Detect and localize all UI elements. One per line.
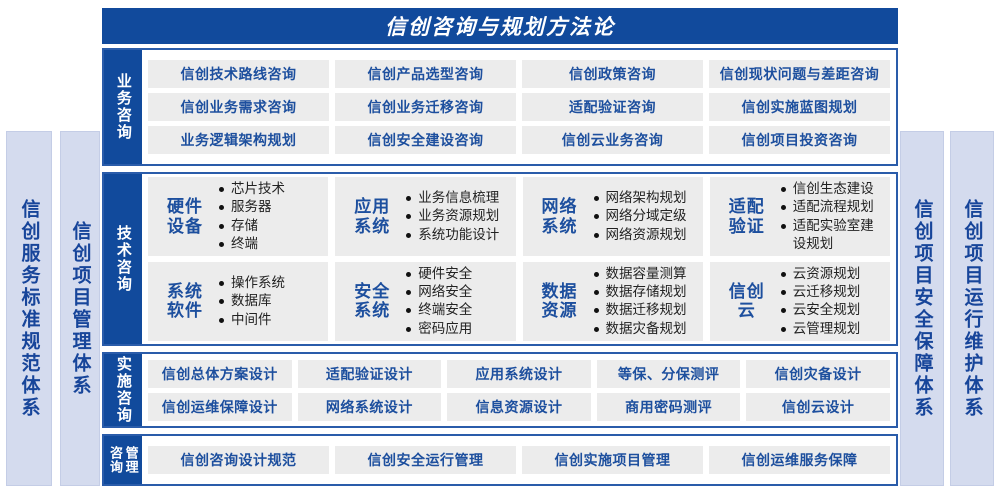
- technical-card-list-item: 中间件: [218, 311, 322, 329]
- section-label-text: 业务咨询: [115, 73, 131, 141]
- technical-card-list-item: 终端: [218, 235, 322, 253]
- section-label-text: 技术咨询: [115, 225, 131, 293]
- technical-card-list-item: 适配实验室建设规划: [780, 217, 884, 253]
- technical-card-list-item: 云管理规划: [780, 320, 884, 338]
- pillar-right-operation-maintenance: 信创项目运行维护体系: [950, 131, 994, 486]
- business-chip-item[interactable]: 信创安全建设咨询: [335, 126, 516, 154]
- section-label-text: 实施咨询: [115, 356, 131, 424]
- section-body-technical: 硬件设备芯片技术服务器存储终端应用系统业务信息梳理业务资源规划系统功能设计网络系…: [142, 174, 896, 344]
- technical-card-list-item: 适配流程规划: [780, 198, 884, 216]
- technical-card[interactable]: 系统软件操作系统数据库中间件: [148, 262, 328, 341]
- section-label-text-col2: 管理: [124, 446, 138, 474]
- management-chip-item[interactable]: 信创运维服务保障: [709, 446, 890, 474]
- technical-card-list-item: 操作系统: [218, 274, 322, 292]
- technical-card-list: 信创生态建设适配流程规划适配实验室建设规划: [780, 180, 884, 253]
- business-chip-item[interactable]: 信创政策咨询: [522, 60, 703, 88]
- section-label-management: 咨询 管理: [104, 436, 142, 484]
- technical-card-list-item: 数据库: [218, 292, 322, 310]
- technical-card-list-item: 芯片技术: [218, 180, 322, 198]
- technical-card-title: 安全系统: [345, 282, 399, 321]
- technical-card[interactable]: 信创云云资源规划云迁移规划云安全规划云管理规划: [710, 262, 890, 341]
- business-chip-item[interactable]: 业务逻辑架构规划: [148, 126, 329, 154]
- pillar-label: 信创项目运行维护体系: [963, 199, 982, 419]
- business-chip-item[interactable]: 信创现状问题与差距咨询: [709, 60, 890, 88]
- implementation-chip-item[interactable]: 商用密码测评: [597, 393, 741, 421]
- technical-card-list-item: 业务信息梳理: [405, 189, 509, 207]
- technical-card-title: 应用系统: [345, 197, 399, 236]
- business-chip-item[interactable]: 信创业务迁移咨询: [335, 93, 516, 121]
- business-chip-row: 信创技术路线咨询信创产品选型咨询信创政策咨询信创现状问题与差距咨询: [148, 60, 890, 88]
- section-label-technical: 技术咨询: [104, 174, 142, 344]
- implementation-chip-item[interactable]: 应用系统设计: [447, 360, 591, 388]
- technical-card-list: 操作系统数据库中间件: [218, 274, 322, 329]
- technical-card-list-item: 数据迁移规划: [593, 301, 697, 319]
- pillar-label: 信创服务标准规范体系: [20, 199, 39, 419]
- technical-card-list-item: 网络资源规划: [593, 226, 697, 244]
- technical-card-list-item: 密码应用: [405, 320, 509, 338]
- technical-card-title: 系统软件: [158, 282, 212, 321]
- business-chip-item[interactable]: 信创业务需求咨询: [148, 93, 329, 121]
- technical-card-list-item: 存储: [218, 217, 322, 235]
- implementation-chip-row: 信创运维保障设计网络系统设计信息资源设计商用密码测评信创云设计: [148, 393, 890, 421]
- section-label-business: 业务咨询: [104, 50, 142, 164]
- technical-card-row: 硬件设备芯片技术服务器存储终端应用系统业务信息梳理业务资源规划系统功能设计网络系…: [148, 177, 890, 256]
- technical-card-list-item: 网络分域定级: [593, 207, 697, 225]
- implementation-chip-item[interactable]: 网络系统设计: [298, 393, 442, 421]
- implementation-chip-item[interactable]: 信创灾备设计: [746, 360, 890, 388]
- technical-card-list-item: 服务器: [218, 198, 322, 216]
- management-chip-item[interactable]: 信创安全运行管理: [335, 446, 516, 474]
- business-chip-item[interactable]: 信创产品选型咨询: [335, 60, 516, 88]
- implementation-chip-item[interactable]: 信创总体方案设计: [148, 360, 292, 388]
- section-implementation-consulting: 实施咨询 信创总体方案设计适配验证设计应用系统设计等保、分保测评信创灾备设计信创…: [102, 352, 898, 428]
- section-label-implementation: 实施咨询: [104, 354, 142, 426]
- technical-card-list-item: 云迁移规划: [780, 283, 884, 301]
- technical-card-list-item: 业务资源规划: [405, 207, 509, 225]
- technical-card[interactable]: 应用系统业务信息梳理业务资源规划系统功能设计: [335, 177, 515, 256]
- technical-card-list-item: 硬件安全: [405, 265, 509, 283]
- section-body-business: 信创技术路线咨询信创产品选型咨询信创政策咨询信创现状问题与差距咨询信创业务需求咨…: [142, 50, 896, 164]
- technical-card-list: 数据容量测算数据存储规划数据迁移规划数据灾备规划: [593, 265, 697, 338]
- technical-card-list-item: 数据灾备规划: [593, 320, 697, 338]
- technical-card-list: 硬件安全网络安全终端安全密码应用: [405, 265, 509, 338]
- technical-card-list: 业务信息梳理业务资源规划系统功能设计: [405, 189, 509, 244]
- technical-card-list-item: 终端安全: [405, 301, 509, 319]
- technical-card-list-item: 信创生态建设: [780, 180, 884, 198]
- technical-card-title: 数据资源: [533, 282, 587, 321]
- implementation-chip-item[interactable]: 信创云设计: [746, 393, 890, 421]
- technical-card-list-item: 云安全规划: [780, 301, 884, 319]
- business-chip-item[interactable]: 信创项目投资咨询: [709, 126, 890, 154]
- technical-card[interactable]: 硬件设备芯片技术服务器存储终端: [148, 177, 328, 256]
- business-chip-row: 业务逻辑架构规划信创安全建设咨询信创云业务咨询信创项目投资咨询: [148, 126, 890, 154]
- business-chip-item[interactable]: 信创云业务咨询: [522, 126, 703, 154]
- technical-card-title: 信创云: [720, 282, 774, 321]
- technical-card-list-item: 云资源规划: [780, 265, 884, 283]
- section-body-implementation: 信创总体方案设计适配验证设计应用系统设计等保、分保测评信创灾备设计信创运维保障设…: [142, 354, 896, 426]
- pillar-right-security-assurance: 信创项目安全保障体系: [900, 131, 944, 486]
- section-body-management: 信创咨询设计规范信创安全运行管理信创实施项目管理信创运维服务保障: [142, 436, 896, 484]
- implementation-chip-row: 信创总体方案设计适配验证设计应用系统设计等保、分保测评信创灾备设计: [148, 360, 890, 388]
- page-title: 信创咨询与规划方法论: [102, 8, 898, 44]
- technical-card-title: 网络系统: [533, 197, 587, 236]
- business-chip-row: 信创业务需求咨询信创业务迁移咨询适配验证咨询信创实施蓝图规划: [148, 93, 890, 121]
- technical-card[interactable]: 安全系统硬件安全网络安全终端安全密码应用: [335, 262, 515, 341]
- section-business-consulting: 业务咨询 信创技术路线咨询信创产品选型咨询信创政策咨询信创现状问题与差距咨询信创…: [102, 48, 898, 166]
- technical-card-list-item: 数据容量测算: [593, 265, 697, 283]
- pillar-label: 信创项目安全保障体系: [913, 199, 932, 419]
- pillar-label: 信创项目管理体系: [71, 221, 90, 397]
- technical-card-list-item: 网络安全: [405, 283, 509, 301]
- implementation-chip-item[interactable]: 等保、分保测评: [597, 360, 741, 388]
- page-title-text: 信创咨询与规划方法论: [385, 11, 615, 41]
- technical-card-title: 适配验证: [720, 197, 774, 236]
- business-chip-item[interactable]: 信创实施蓝图规划: [709, 93, 890, 121]
- diagram-root: 信创服务标准规范体系 信创项目管理体系 信创项目安全保障体系 信创项目运行维护体…: [0, 0, 1000, 496]
- section-label-text-col1: 咨询: [108, 446, 122, 474]
- implementation-chip-item[interactable]: 信创运维保障设计: [148, 393, 292, 421]
- technical-card-title: 硬件设备: [158, 197, 212, 236]
- technical-card-list: 芯片技术服务器存储终端: [218, 180, 322, 253]
- technical-card[interactable]: 适配验证信创生态建设适配流程规划适配实验室建设规划: [710, 177, 890, 256]
- pillar-left-service-standard: 信创服务标准规范体系: [6, 131, 52, 486]
- section-consulting-management: 咨询 管理 信创咨询设计规范信创安全运行管理信创实施项目管理信创运维服务保障: [102, 434, 898, 486]
- technical-card-list-item: 数据存储规划: [593, 283, 697, 301]
- technical-card-row: 系统软件操作系统数据库中间件安全系统硬件安全网络安全终端安全密码应用数据资源数据…: [148, 262, 890, 341]
- management-chip-item[interactable]: 信创咨询设计规范: [148, 446, 329, 474]
- pillar-left-project-management: 信创项目管理体系: [60, 131, 100, 486]
- section-technical-consulting: 技术咨询 硬件设备芯片技术服务器存储终端应用系统业务信息梳理业务资源规划系统功能…: [102, 172, 898, 346]
- management-chip-item[interactable]: 信创实施项目管理: [522, 446, 703, 474]
- technical-card-list-item: 系统功能设计: [405, 226, 509, 244]
- technical-card-list: 网络架构规划网络分域定级网络资源规划: [593, 189, 697, 244]
- business-chip-item[interactable]: 适配验证咨询: [522, 93, 703, 121]
- technical-card-list-item: 网络架构规划: [593, 189, 697, 207]
- implementation-chip-item[interactable]: 适配验证设计: [298, 360, 442, 388]
- implementation-chip-item[interactable]: 信息资源设计: [447, 393, 591, 421]
- technical-card[interactable]: 网络系统网络架构规划网络分域定级网络资源规划: [523, 177, 703, 256]
- technical-card[interactable]: 数据资源数据容量测算数据存储规划数据迁移规划数据灾备规划: [523, 262, 703, 341]
- management-chip-row: 信创咨询设计规范信创安全运行管理信创实施项目管理信创运维服务保障: [148, 446, 890, 474]
- business-chip-item[interactable]: 信创技术路线咨询: [148, 60, 329, 88]
- technical-card-list: 云资源规划云迁移规划云安全规划云管理规划: [780, 265, 884, 338]
